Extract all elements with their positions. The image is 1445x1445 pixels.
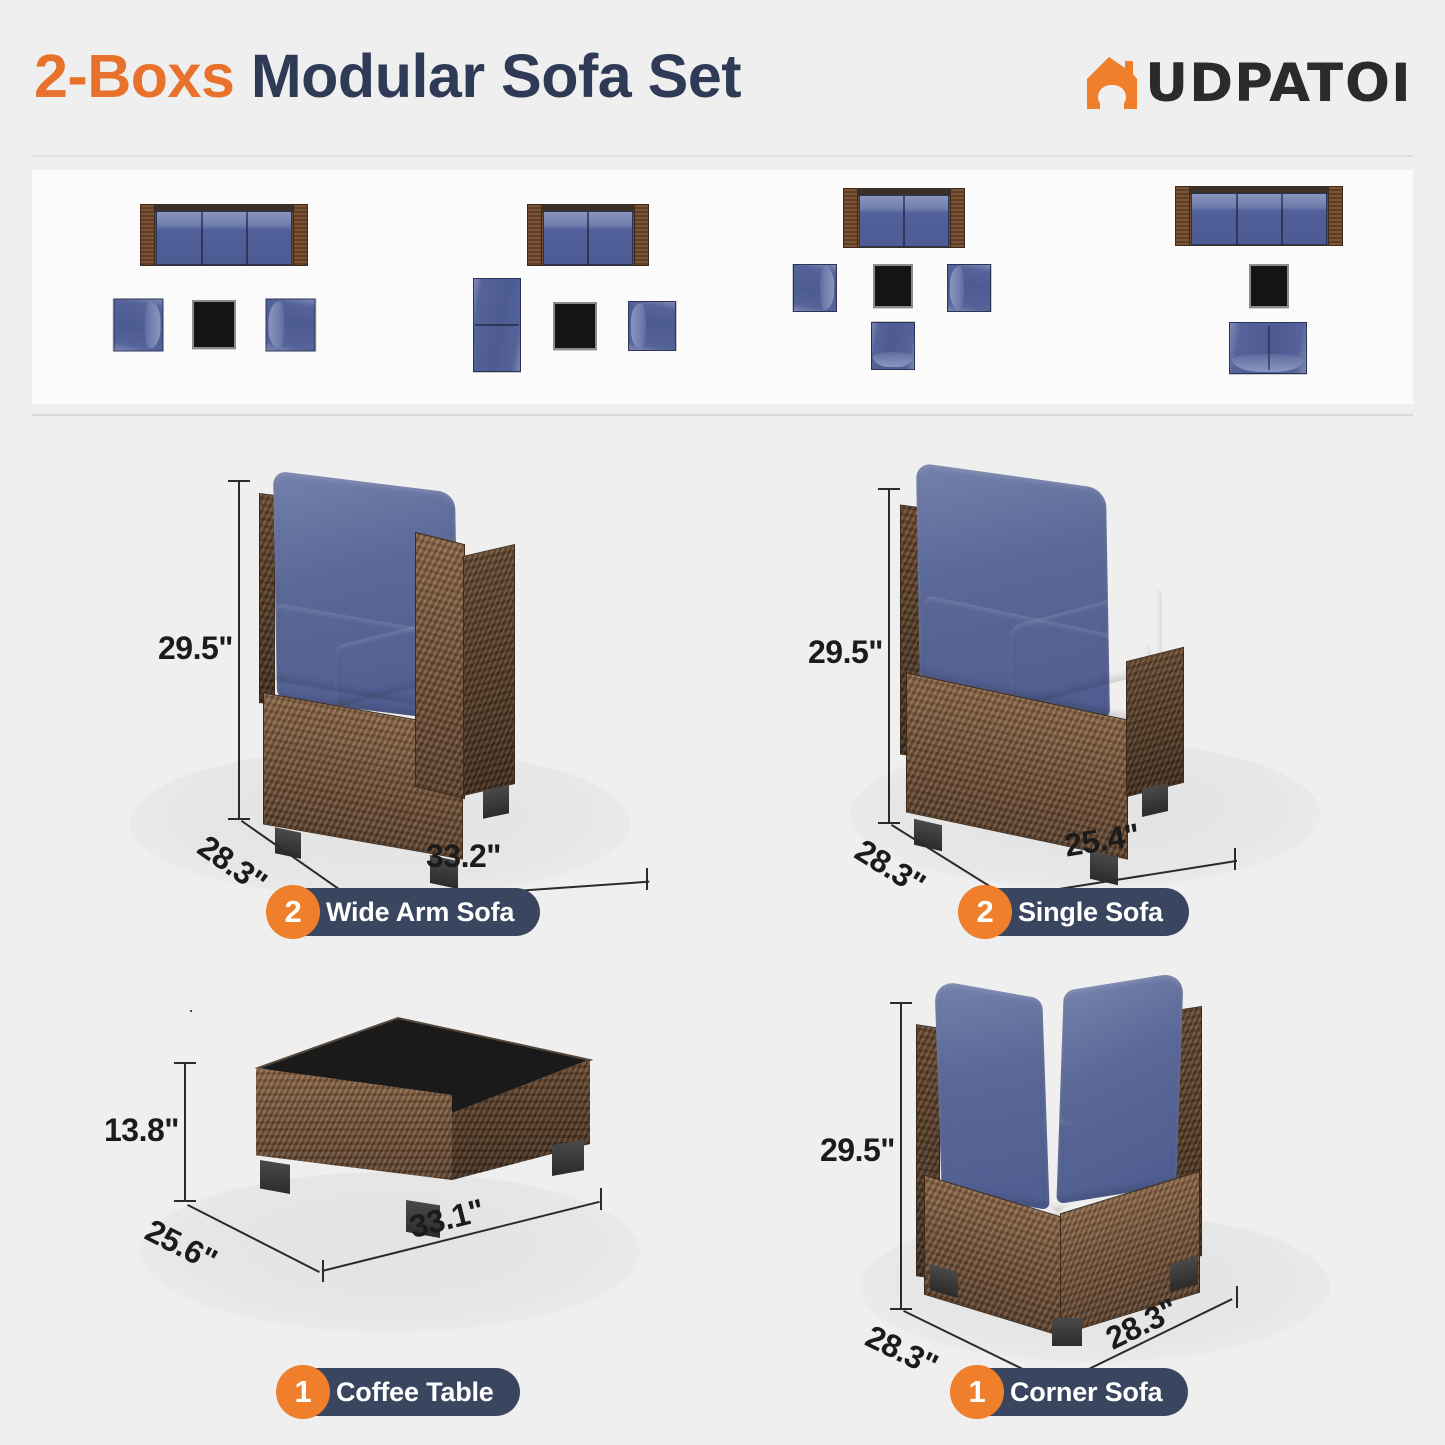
- right-arm-chair: [266, 299, 316, 352]
- sofa-arm-left: [527, 204, 542, 266]
- coffee-table: [553, 302, 597, 350]
- pill-label: Coffee Table: [336, 1377, 494, 1408]
- layout-4-facing: [1137, 170, 1437, 404]
- sofa-arm-right: [1328, 186, 1343, 246]
- coffee-table: [1249, 264, 1289, 308]
- label-chip-coffee-table[interactable]: Coffee Table 1: [278, 1368, 520, 1416]
- width-dimension-label: 33.2": [426, 838, 501, 875]
- 3-seat-sofa-with-arms: [1175, 186, 1343, 246]
- sofa-arm-right: [634, 204, 649, 266]
- height-dimension-label: 13.8": [104, 1112, 179, 1149]
- height-dimension-label: 29.5": [808, 634, 883, 671]
- pill-body[interactable]: Coffee Table 1: [278, 1368, 520, 1416]
- sofa-arm-left: [1175, 186, 1190, 246]
- sofa-arm-right: [950, 188, 965, 248]
- divider-top: [32, 155, 1413, 157]
- qty-badge: 1: [950, 1365, 1004, 1419]
- wide-arm-sofa-illustration: [215, 470, 625, 870]
- layout-1-straight: [102, 170, 402, 404]
- sofa-cushions: [1191, 193, 1327, 245]
- height-dimension-label: 29.5": [158, 630, 233, 667]
- pill-label: Corner Sofa: [1010, 1377, 1162, 1408]
- pill-body[interactable]: Corner Sofa 1: [952, 1368, 1188, 1416]
- qty-badge: 2: [958, 885, 1012, 939]
- brand-wordmark: UDPATIO: [1145, 57, 1411, 110]
- sofa-arm-left: [843, 188, 858, 248]
- title-accent: 2-Boxs: [34, 42, 234, 110]
- right-arm-chair: [628, 301, 676, 351]
- layout-2-l-shape: [447, 170, 747, 404]
- layout-3-u-shape: [777, 170, 1087, 404]
- 2-unit-vertical-stack: [473, 278, 521, 372]
- height-dimension-line: [900, 1002, 902, 1310]
- brand-logo: UDPATIO: [1083, 53, 1411, 113]
- coffee-table-illustration: [190, 1010, 630, 1300]
- 3-seat-sofa-with-arms: [140, 204, 308, 266]
- label-chip-single-sofa[interactable]: Single Sofa 2: [960, 888, 1189, 936]
- qty-badge: 2: [266, 885, 320, 939]
- sofa-arm-right: [293, 204, 308, 266]
- height-dimension-line: [184, 1062, 186, 1202]
- corner-sofa-illustration: [908, 970, 1308, 1360]
- label-chip-corner-sofa[interactable]: Corner Sofa 1: [952, 1368, 1188, 1416]
- left-arm-chair: [114, 299, 164, 352]
- sofa-arm-left: [140, 204, 155, 266]
- title-rest: Modular Sofa Set: [251, 42, 741, 110]
- infographic-page: 2-Boxs Modular Sofa Set UDPATIO: [0, 0, 1445, 1445]
- product-panel-coffee-table: 13.8" 25.6" 33.1": [100, 1000, 720, 1400]
- product-panel-corner-sofa: 29.5" 28.3" 28.3": [800, 950, 1430, 1400]
- coffee-table: [192, 300, 236, 349]
- pill-label: Single Sofa: [1018, 897, 1163, 928]
- left-chair: [793, 264, 837, 312]
- sofa-cushions: [156, 211, 292, 265]
- single-sofa-illustration: [890, 460, 1290, 870]
- height-dimension-line: [238, 480, 240, 820]
- page-title: 2-Boxs Modular Sofa Set: [34, 46, 741, 107]
- qty-badge: 1: [276, 1365, 330, 1419]
- pill-label: Wide Arm Sofa: [326, 897, 514, 928]
- pill-body[interactable]: Wide Arm Sofa 2: [268, 888, 540, 936]
- 2-seat-sofa-with-arms: [527, 204, 649, 266]
- divider-bottom: [32, 414, 1413, 416]
- 2-seat-loveseat: [1229, 322, 1307, 374]
- height-dimension-line: [888, 488, 890, 824]
- pill-body[interactable]: Single Sofa 2: [960, 888, 1189, 936]
- house-arch-icon: [1083, 53, 1141, 113]
- right-chair: [947, 264, 991, 312]
- height-dimension-label: 29.5": [820, 1132, 895, 1169]
- coffee-table: [873, 264, 913, 308]
- bottom-chair: [871, 322, 915, 370]
- label-chip-wide-arm-sofa[interactable]: Wide Arm Sofa 2: [268, 888, 540, 936]
- configuration-band: [32, 170, 1413, 404]
- header: 2-Boxs Modular Sofa Set UDPATIO: [0, 0, 1445, 152]
- product-panel-single-sofa: 29.5" 28.3" 25.4": [790, 440, 1430, 950]
- 2-seat-sofa-with-arms: [843, 188, 965, 248]
- product-panel-wide-arm-sofa: 29.5" 28.3" 33.2": [60, 440, 760, 950]
